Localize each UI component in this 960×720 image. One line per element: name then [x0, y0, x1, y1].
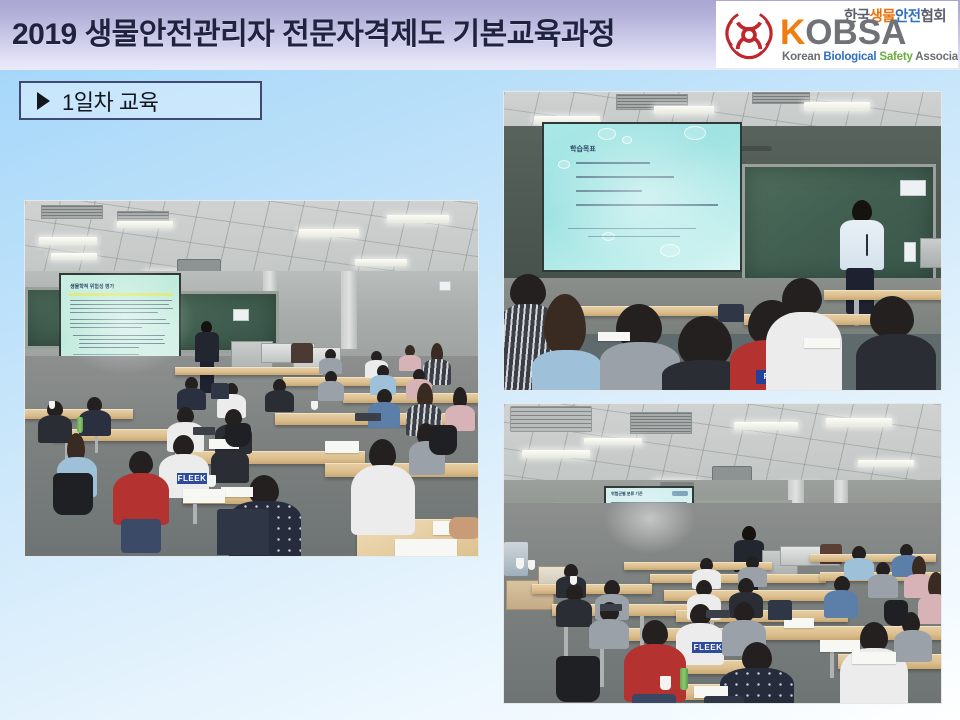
logo-en-part-1: Korean — [782, 51, 823, 63]
logo-wordmark-rest: OBSA — [805, 13, 906, 52]
logo-en-part-2: Biological — [823, 51, 879, 63]
biohazard-icon — [722, 8, 776, 62]
presentation-slide: 2019 생물안전관리자 전문자격제도 기본교육과정 한국생물안전협회 — [0, 0, 960, 720]
logo-wordmark: KOBSA — [780, 16, 906, 50]
photo-bottom-right-classroom: 위험군별 분류 기준 — [503, 403, 942, 704]
section-label-box: 1일차 교육 — [19, 81, 262, 120]
play-triangle-icon — [37, 92, 50, 110]
logo-wordmark-k: K — [780, 13, 805, 52]
logo-kr-part-4: 협회 — [920, 9, 945, 25]
photo-top-right-lecture: 학습목표 — [503, 91, 942, 391]
section-label: 1일차 교육 — [62, 85, 158, 117]
logo-en-part-4: Association — [915, 51, 958, 63]
logo-en-part-3: Safety — [879, 51, 915, 63]
page-title: 2019 생물안전관리자 전문자격제도 기본교육과정 — [12, 10, 712, 60]
photo-left-classroom-wide: 생물학적 위험성 평가 — [24, 200, 479, 557]
logo-english-name: Korean Biological Safety Association — [782, 51, 958, 63]
kobsa-logo: 한국생물안전협회 KOBSA Korean Biological Safety … — [716, 1, 958, 68]
